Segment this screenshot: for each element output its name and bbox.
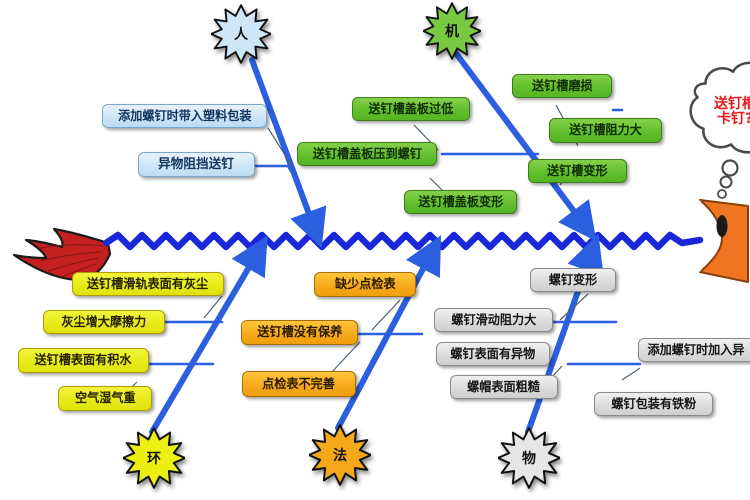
cause-boxes-layer: 添加螺钉时带入塑料包装 异物阻挡送钉 送钉槽盖板过低 送钉槽盖板压到螺钉 送钉槽… bbox=[0, 0, 750, 500]
problem-line-1: 送钉槽 bbox=[714, 97, 750, 112]
thought-bubble-tail bbox=[0, 0, 750, 500]
problem-line-2: 卡钉? bbox=[717, 112, 750, 127]
fishbone-diagram: 添加螺钉时带入塑料包装 异物阻挡送钉 送钉槽盖板过低 送钉槽盖板压到螺钉 送钉槽… bbox=[0, 0, 750, 500]
